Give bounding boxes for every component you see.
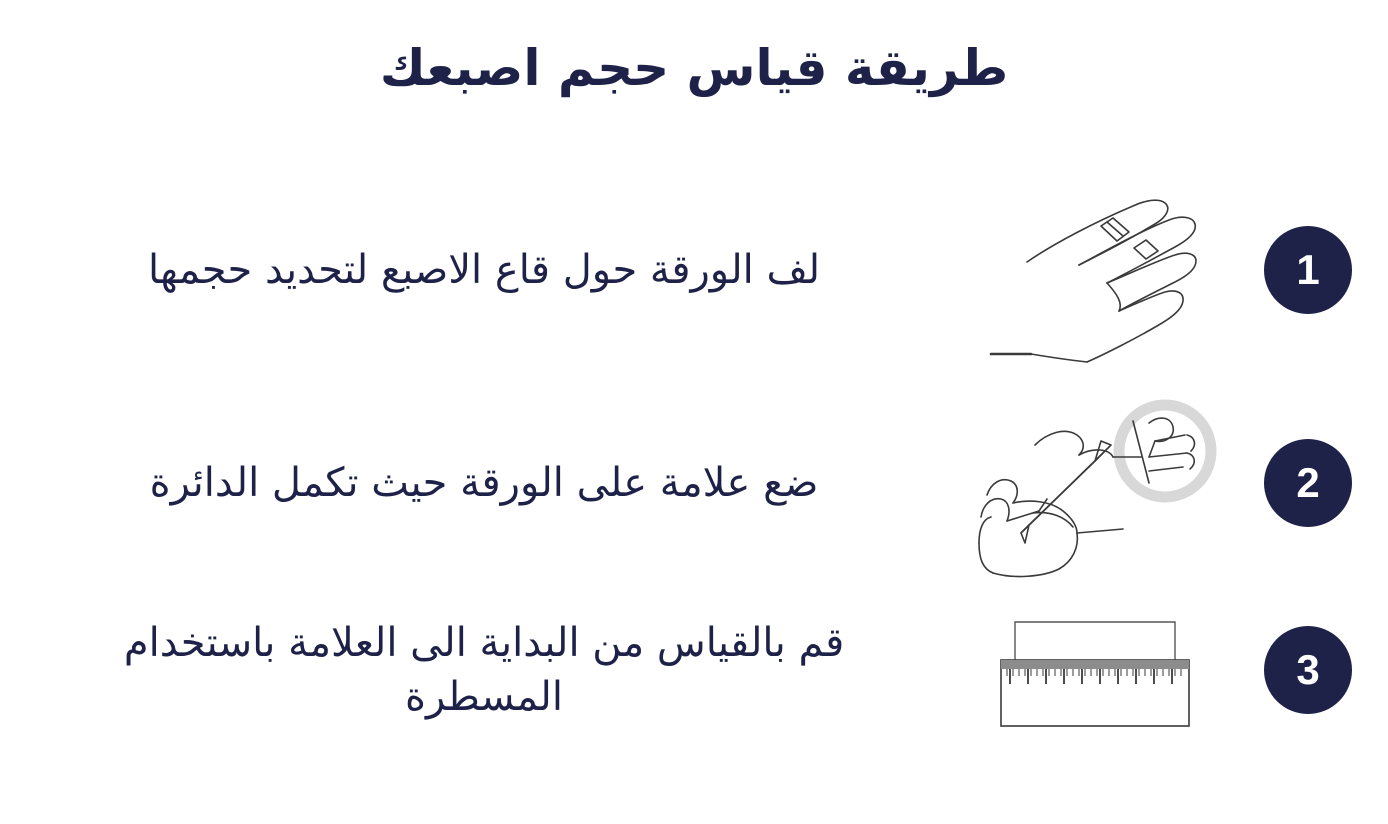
hand-with-paper-strip-around-finger-icon [983,170,1213,370]
step-3-text: قم بالقياس من البداية الى العلامة باستخد… [124,616,844,724]
step-row-1: 1 [0,180,1388,360]
step-row-2: 2 [0,388,1388,578]
step-1-text-cell: لف الورقة حول قاع الاصبع لتحديد حجمها [0,243,968,297]
step-1-illustration-cell [968,170,1228,370]
ring-size-guide-page: طريقة قياس حجم اصبعك 1 [0,0,1388,824]
step-row-3: 3 [0,600,1388,740]
page-title: طريقة قياس حجم اصبعك [0,38,1388,98]
step-3-badge-cell: 3 [1228,626,1388,714]
step-2-illustration-cell [968,383,1228,583]
step-2-number-badge: 2 [1264,439,1352,527]
step-3-illustration-cell [968,608,1228,733]
step-3-text-cell: قم بالقياس من البداية الى العلامة باستخد… [0,616,968,724]
step-1-text: لف الورقة حول قاع الاصبع لتحديد حجمها [148,243,820,297]
step-1-badge-cell: 1 [1228,226,1388,314]
step-2-text-cell: ضع علامة على الورقة حيث تكمل الدائرة [0,456,968,510]
step-1-number-badge: 1 [1264,226,1352,314]
ruler-measuring-paper-strip-icon [993,608,1203,733]
hand-marking-paper-with-pen-icon [973,383,1223,583]
step-2-badge-cell: 2 [1228,439,1388,527]
step-2-text: ضع علامة على الورقة حيث تكمل الدائرة [150,456,819,510]
step-3-number-badge: 3 [1264,626,1352,714]
